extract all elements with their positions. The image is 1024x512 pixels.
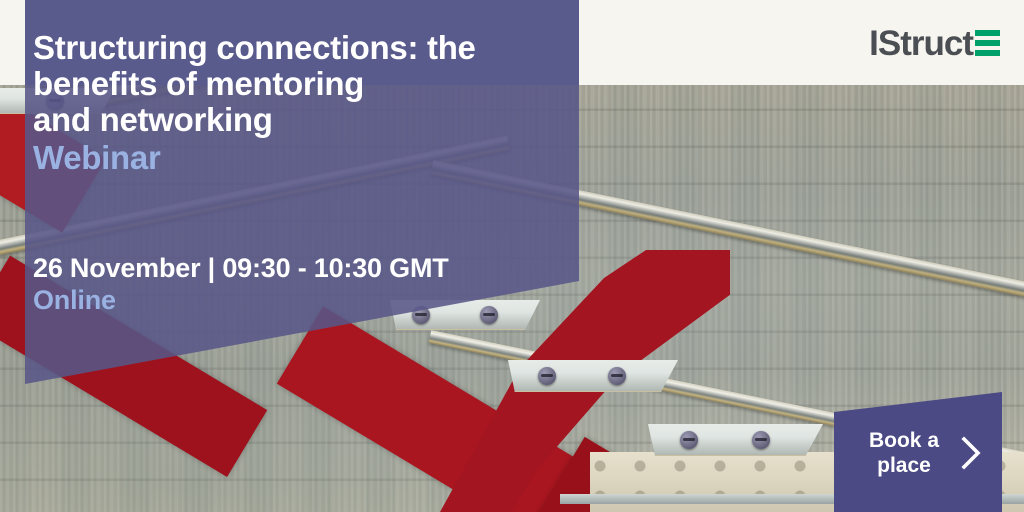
chevron-right-icon bbox=[960, 436, 982, 470]
stair-tread-4 bbox=[648, 424, 823, 456]
book-a-place-label-line-2: place bbox=[877, 454, 931, 477]
headline-block: Structuring connections: the benefits of… bbox=[33, 30, 563, 178]
promo-banner: IStruct Structuring connections: the ben… bbox=[0, 0, 1024, 512]
bolt-fixing-7 bbox=[752, 431, 770, 449]
title-line-3: and networking bbox=[33, 102, 563, 138]
stair-tread-3 bbox=[508, 360, 678, 392]
event-date-time: 26 November | 09:30 - 10:30 GMT bbox=[33, 252, 573, 284]
bolt-fixing-4 bbox=[538, 367, 556, 385]
book-a-place-label-line-1: Book a bbox=[869, 429, 939, 452]
bolt-fixing-6 bbox=[680, 431, 698, 449]
logo-wordmark: IStruct bbox=[869, 26, 973, 61]
event-type-label: Webinar bbox=[33, 138, 563, 178]
event-location: Online bbox=[33, 284, 573, 316]
logo-e-bars-icon bbox=[975, 30, 1000, 56]
title-line-1: Structuring connections: the bbox=[33, 30, 563, 66]
title-line-2: benefits of mentoring bbox=[33, 66, 563, 102]
bolt-fixing-5 bbox=[608, 367, 626, 385]
book-a-place-label: Book a place bbox=[856, 428, 952, 478]
event-details-block: 26 November | 09:30 - 10:30 GMT Online bbox=[33, 252, 573, 316]
istructe-logo[interactable]: IStruct bbox=[869, 24, 1000, 62]
book-a-place-content: Book a place bbox=[856, 428, 1006, 478]
